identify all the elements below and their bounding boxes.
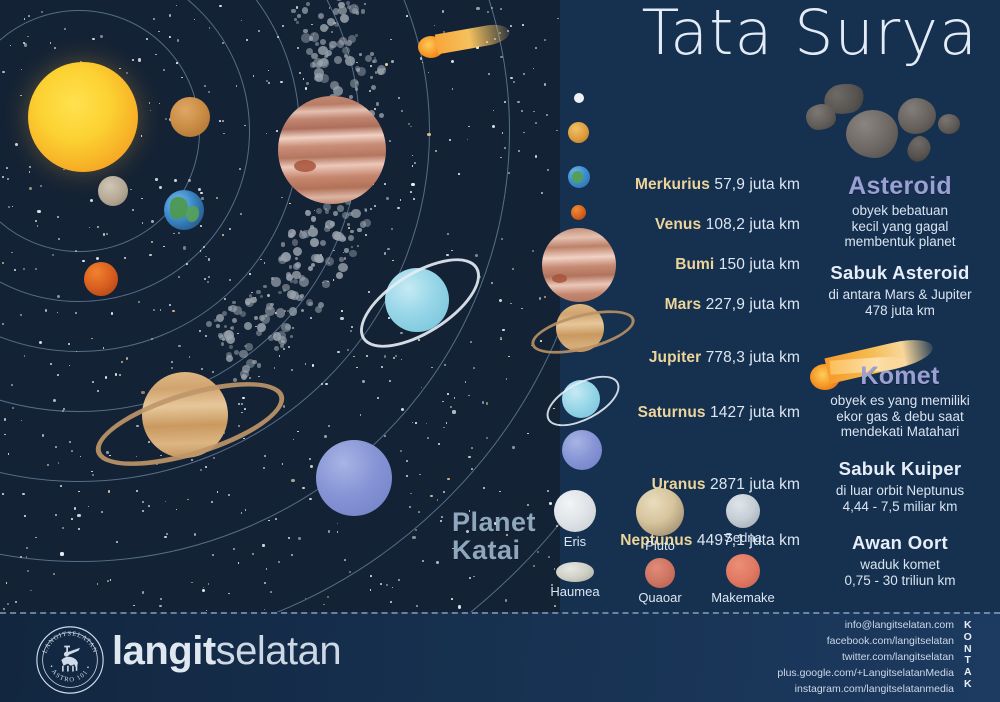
asteroid-rock [904,133,934,165]
star [4,434,6,436]
planet-name: Bumi [675,256,714,273]
asteroid-belt-dot [308,227,318,237]
star [482,401,484,403]
star [412,536,415,539]
star [539,297,541,299]
star [236,85,238,87]
asteroid-belt-dot [293,263,300,270]
comet-desc-line2: ekor gas & debu saat [800,409,1000,425]
star [28,15,30,17]
star [158,31,160,33]
star [91,338,93,340]
sagittarius-figure [61,646,80,672]
star [427,437,429,439]
asteroid-belt-dot [326,26,329,29]
asteroid-belt-dot [232,318,237,323]
star [151,220,154,223]
star [50,363,52,365]
asteroid-belt-dot [337,40,345,48]
star [100,35,103,38]
star [328,530,330,532]
dwarf-ball-pluto [636,488,684,536]
star [443,427,445,429]
asteroid-belt-dot [318,13,324,19]
star [418,511,420,513]
star [329,7,331,9]
asteroid-belt-dot [315,73,324,82]
star [380,583,382,585]
dwarf-label: Haumea [540,584,610,599]
asteroid-belt-dot [348,212,353,217]
star [239,168,241,170]
star [276,130,278,132]
star [244,125,246,127]
star [397,207,399,209]
contact-twitter[interactable]: twitter.com/langitselatan [777,650,954,666]
asteroid-belt-dot [322,280,329,287]
star [132,59,134,61]
star [4,418,6,420]
contact-googleplus[interactable]: plus.google.com/+LangitselatanMedia [777,666,954,682]
star [452,410,455,413]
asteroid-rock [938,114,960,134]
star [324,435,327,438]
asteroid-belt-dot [239,350,248,359]
star [69,441,71,443]
star [547,169,549,171]
column-planet-mars [571,205,586,220]
svg-text:• ASTRO 101 •: • ASTRO 101 • [47,664,92,684]
star [442,401,444,403]
asteroid-belt-dot [289,265,293,269]
star [296,6,298,8]
asteroid-desc-line2: kecil yang gagal [800,219,1000,235]
star [310,317,312,319]
star [148,505,150,507]
star [204,85,206,87]
asteroid-belt-dot [302,230,309,237]
asteroid-belt-dot [338,263,348,273]
asteroid-belt-dot [334,232,344,242]
star [2,71,4,73]
star [446,254,448,256]
asteroid-belt-dot [216,324,220,328]
kontak-letter: A [960,667,976,679]
star [24,515,26,517]
star [327,596,329,598]
star [163,246,165,248]
dwarf-item-pluto: Pluto [625,488,695,553]
star [142,591,144,593]
oort-cloud-desc-line1: waduk komet [800,557,1000,573]
comet-icon [412,24,508,58]
star [279,355,281,357]
star [153,309,155,311]
star [107,580,109,582]
star [108,490,110,492]
asteroid-belt-dot [310,238,319,247]
star [96,257,99,260]
star [364,3,366,5]
contact-email[interactable]: info@langitselatan.com [777,618,954,634]
star [177,39,179,41]
star [219,5,221,7]
star [35,268,37,270]
star [384,183,386,185]
asteroid-belt-dot [363,219,371,227]
star [492,125,495,128]
star [328,425,330,427]
star [280,81,282,83]
star [473,367,475,369]
star [450,406,452,408]
planet-sun [28,62,138,172]
langitselatan-logo: LANGITSELATAN • ASTRO 101 • [34,624,106,696]
brand-wordmark: langitselatan [112,629,341,674]
star [410,191,412,193]
star [35,537,37,539]
dwarf-label: Eris [540,534,610,549]
planet-distance: 57,9 juta km [714,176,800,193]
asteroid-belt-dot [315,42,319,46]
asteroid-belt-dot [291,9,295,13]
star [141,198,143,200]
star [186,263,188,265]
star [216,197,218,199]
asteroid-belt-dot [283,289,286,292]
star [262,544,264,546]
asteroid-desc-line1: obyek bebatuan [800,203,1000,219]
star [476,7,479,10]
planet-name: Mars [665,296,702,313]
star [71,518,73,520]
comet-heading: Komet [800,362,1000,391]
asteroid-belt-dot [257,363,262,368]
star [245,509,247,511]
star [517,101,519,103]
star [508,172,510,174]
star [413,198,415,200]
planet-jupiter [278,96,386,204]
star [544,39,546,41]
contact-facebook[interactable]: facebook.com/langitselatan [777,634,954,650]
star [370,208,372,210]
star [29,171,31,173]
planet-distance: 778,3 juta km [706,349,800,366]
dwarf-label: Pluto [625,538,695,553]
star [499,299,502,302]
planet-distance: 108,2 juta km [706,216,800,233]
asteroid-belt-dot [331,31,333,33]
dwarf-label: Makemake [705,590,781,605]
star [337,531,339,533]
star [390,601,392,603]
kuiper-belt-block: Sabuk Kuiper di luar orbit Neptunus 4,44… [800,458,1000,514]
star [194,533,196,535]
star [470,341,472,343]
dwarf-ball-eris [554,490,596,532]
star [344,559,346,561]
star [209,27,211,29]
oort-cloud-heading: Awan Oort [800,532,1000,554]
star [178,232,180,234]
star [204,278,206,280]
star [435,150,437,152]
dwarf-ball-makemake [726,554,760,588]
asteroid-belt-dot [320,39,326,45]
star [389,140,391,142]
star [270,591,272,593]
star [350,330,352,332]
dwarf-item-eris: Eris [540,490,610,549]
star [160,309,162,311]
star [153,18,155,20]
star [510,25,512,27]
star [406,475,408,477]
star [522,24,524,26]
star [406,460,408,462]
asteroid-rock [846,110,898,158]
star [312,364,314,366]
star [219,120,221,122]
star [370,65,372,67]
star [454,397,456,399]
star [309,498,311,500]
star [341,310,343,312]
kuiper-belt-desc-line1: di luar orbit Neptunus [800,483,1000,499]
star [163,69,165,71]
star [2,493,4,495]
contact-instagram[interactable]: instagram.com/langitselatanmedia [777,682,954,698]
asteroid-belt-dot [288,229,296,237]
star [116,541,118,543]
star [410,126,412,128]
asteroid-belt-dot [325,220,334,229]
asteroid-belt-dot [336,272,343,279]
asteroid-belt-dot [265,306,275,316]
planet-name: Merkurius [635,176,710,193]
asteroid-belt-dot [274,346,279,351]
star [302,487,304,489]
asteroid-rock [898,98,936,134]
asteroid-belt-dot [257,323,266,332]
star [447,393,449,395]
star [381,366,383,368]
column-planet-venus [568,122,589,143]
planet-name: Saturnus [638,404,706,421]
asteroid-belt-dot [365,55,372,62]
star [468,456,470,458]
star [27,36,29,38]
asteroid-desc-line3: membentuk planet [800,234,1000,250]
star [200,469,202,471]
asteroid-belt-dot [271,277,281,287]
star [289,203,291,205]
star [42,434,44,436]
asteroid-belt-dot [296,21,299,24]
asteroid-rock [806,104,836,130]
star [401,110,403,112]
asteroid-belt-dot [222,338,225,341]
star [325,383,327,385]
asteroid-belt-dot [300,294,303,297]
asteroid-belt-dot [312,64,315,67]
star [249,377,251,379]
asteroid-belt-dot [315,306,322,313]
star [7,603,9,605]
star [11,384,13,386]
infographic-poster: Tata Surya Merkurius 57,9 juta km Venus … [0,0,1000,702]
star [415,422,417,424]
kontak-vertical-label: KONTAK [960,620,976,691]
asteroid-belt-dot [290,291,299,300]
column-planet-bumi-land [572,171,583,183]
comet-desc-line3: mendekati Matahari [800,424,1000,440]
oort-cloud-desc-line2: 0,75 - 30 triliun km [800,573,1000,589]
asteroid-belt-desc-line2: 478 juta km [800,303,1000,319]
star [138,58,141,61]
asteroid-belt-dot [339,257,343,261]
star [323,604,325,606]
star [449,139,451,141]
dwarf-item-makemake: Makemake [705,554,781,605]
star [348,227,350,229]
star [370,575,372,577]
logo-emblem-icon: LANGITSELATAN • ASTRO 101 • [34,624,106,696]
star [222,120,224,122]
star [200,192,202,194]
star [486,402,488,404]
asteroid-belt-heading: Sabuk Asteroid [800,262,1000,284]
star [340,317,343,320]
star [291,479,294,482]
star [172,310,174,312]
star [303,78,305,80]
asteroid-belt-dot [232,301,236,305]
dwarf-planet-grid: Eris Pluto Sedna Haumea Quaoar Makemake [440,490,800,612]
star [384,435,386,437]
asteroid-cluster-illustration [800,78,1000,170]
star [264,262,266,264]
asteroid-belt-dot [357,228,362,233]
star [52,254,54,256]
star [521,308,523,310]
asteroid-belt-dot [370,76,372,78]
star [176,62,178,64]
star [7,178,9,180]
star [212,554,214,556]
star [55,514,57,516]
star [74,507,76,509]
star [260,259,262,261]
star [60,552,63,555]
brand-bold: langit [112,629,216,673]
column-planet-merkurius [574,93,584,103]
asteroid-belt-dot [361,9,366,14]
star [191,459,193,461]
star [212,371,214,373]
star [535,47,537,49]
star [500,337,502,339]
star [471,468,473,470]
star [409,506,411,508]
planet-name: Venus [655,216,701,233]
star [178,276,180,278]
star [142,510,144,512]
star [178,345,180,347]
right-info-column: Asteroid obyek bebatuan kecil yang gagal… [800,0,1000,612]
star [222,42,224,44]
star [166,533,168,535]
star [92,38,94,40]
asteroid-belt-dot [228,306,232,310]
star [200,250,202,252]
asteroid-belt-dot [316,208,322,214]
star [533,111,535,113]
star [169,14,171,16]
kontak-letter: K [960,679,976,691]
star [427,133,430,136]
star [374,205,376,207]
asteroid-belt-dot [306,2,310,6]
planet-venus [170,97,210,137]
asteroid-belt-dot [374,57,376,59]
column-planet-jupiter [542,228,616,302]
star [155,54,157,56]
star [57,374,59,376]
star [132,209,134,211]
star [401,408,404,411]
asteroid-belt-dot [344,248,348,252]
star [475,254,478,257]
star [483,487,485,489]
asteroid-belt-dot [320,58,328,66]
star [387,248,389,250]
asteroid-belt-dot [276,308,285,317]
star [471,447,473,449]
dwarf-label: Quaoar [625,590,695,605]
star [37,210,40,213]
star [253,75,255,77]
star [430,495,432,497]
star [142,222,144,224]
dwarf-item-sedna: Sedna [708,494,778,545]
star [171,361,173,363]
star [442,10,444,12]
star [6,167,8,169]
star [208,276,210,278]
asteroid-belt-dot [344,54,348,58]
star [201,197,203,199]
asteroid-belt-dot [305,210,311,216]
star [136,490,138,492]
star [291,369,293,371]
star [126,357,128,359]
kuiper-belt-desc-line2: 4,44 - 7,5 miliar km [800,499,1000,515]
star [458,173,460,175]
star [27,570,29,572]
planet-distance: 1427 juta km [710,404,800,421]
dwarf-ball-haumea [556,562,594,582]
asteroid-belt-dot [224,330,234,340]
asteroid-belt-dot [330,81,339,90]
asteroid-belt-dot [337,205,343,211]
star [183,246,186,249]
star [35,220,37,222]
column-planet-neptunus [562,430,602,470]
star [188,179,191,182]
asteroid-belt-desc-line1: di antara Mars & Jupiter [800,287,1000,303]
